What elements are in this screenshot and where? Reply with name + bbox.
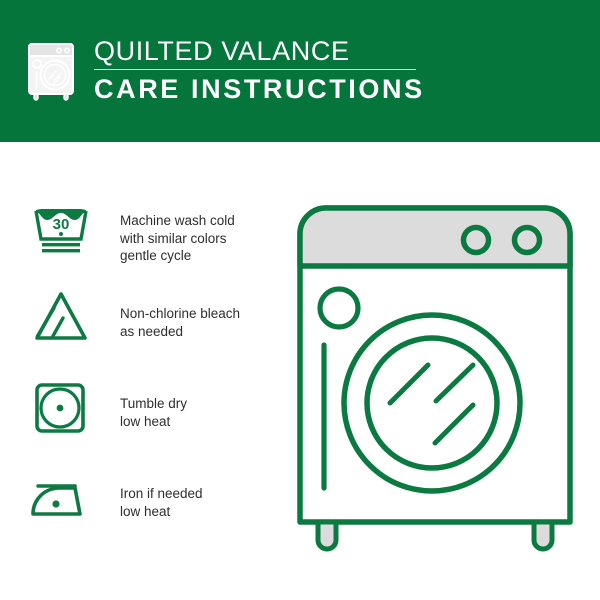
tumble-dry-low-icon — [30, 376, 92, 438]
care-item-label: Tumble dry low heat — [120, 395, 187, 430]
page-subtitle: CARE INSTRUCTIONS — [94, 73, 425, 105]
wash-tub-30-icon: 30 — [30, 196, 92, 258]
page-title: QUILTED VALANCE — [94, 36, 425, 66]
foot-right — [534, 522, 552, 549]
care-instructions-page: QUILTED VALANCE CARE INSTRUCTIONS 30 — [0, 0, 600, 600]
washing-machine-illustration — [292, 198, 578, 558]
control-panel — [300, 208, 570, 266]
wash-temperature-label: 30 — [53, 216, 70, 233]
title-divider — [94, 69, 416, 70]
washing-machine-icon — [24, 40, 82, 102]
header-banner: QUILTED VALANCE CARE INSTRUCTIONS — [0, 0, 600, 142]
header-content: QUILTED VALANCE CARE INSTRUCTIONS — [24, 36, 425, 105]
care-instruction-list: 30 Machine wash cold with similar colors… — [30, 196, 280, 556]
care-item-label: Iron if needed low heat — [120, 485, 203, 520]
triangle-stripes-icon — [30, 286, 92, 348]
care-item-bleach: Non-chlorine bleach as needed — [30, 286, 280, 376]
care-item-tumble-dry: Tumble dry low heat — [30, 376, 280, 466]
header-title-block: QUILTED VALANCE CARE INSTRUCTIONS — [94, 36, 425, 105]
care-item-label: Machine wash cold with similar colors ge… — [120, 212, 235, 265]
care-item-label: Non-chlorine bleach as needed — [120, 305, 240, 340]
care-item-machine-wash: 30 Machine wash cold with similar colors… — [30, 196, 280, 286]
iron-low-icon — [30, 466, 92, 528]
foot-left — [318, 522, 336, 549]
care-item-iron: Iron if needed low heat — [30, 466, 280, 556]
